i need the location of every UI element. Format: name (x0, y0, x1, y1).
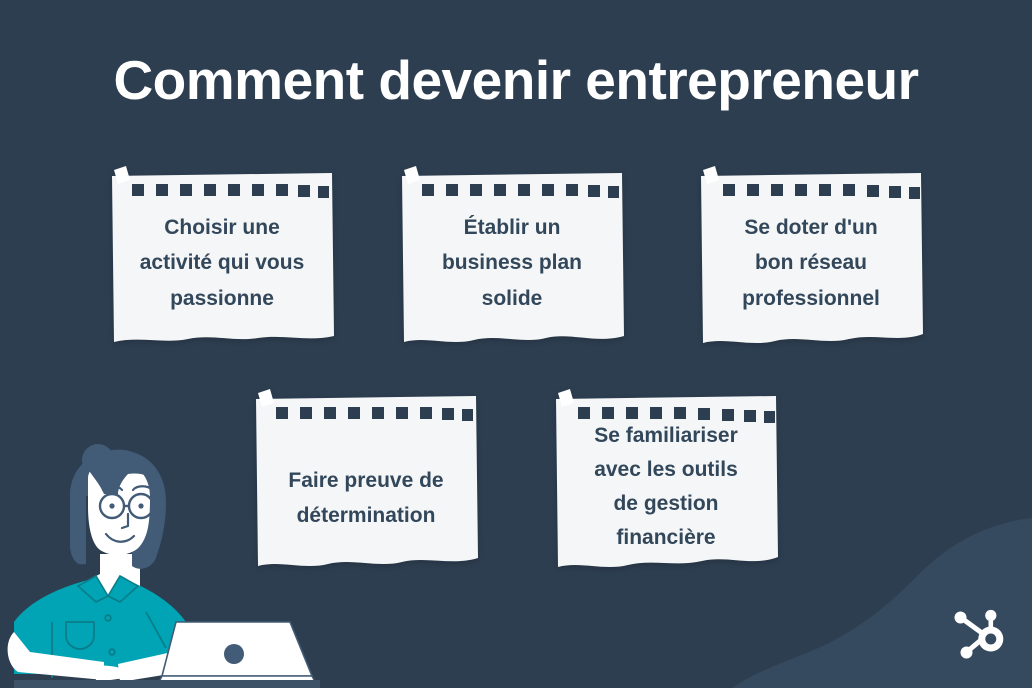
note-card-text: Établir un business plan solide (406, 210, 618, 316)
note-card-text: Choisir une activité qui vous passionne (116, 210, 328, 316)
note-card-text: Se familiariser avec les outils de gesti… (560, 419, 772, 555)
woman-with-laptop-illustration (0, 436, 340, 688)
note-card: Choisir une activité qui vous passionne (108, 164, 336, 360)
note-card: Se doter d'un bon réseau professionnel (697, 164, 925, 360)
infographic-canvas: Comment devenir entrepreneur Choisir une… (0, 0, 1032, 688)
page-title: Comment devenir entrepreneur (0, 52, 1032, 110)
note-card: Se familiariser avec les outils de gesti… (552, 387, 780, 583)
hubspot-sprocket-logo (946, 602, 1010, 666)
note-card-text: Se doter d'un bon réseau professionnel (705, 210, 917, 316)
note-card: Établir un business plan solide (398, 164, 626, 360)
